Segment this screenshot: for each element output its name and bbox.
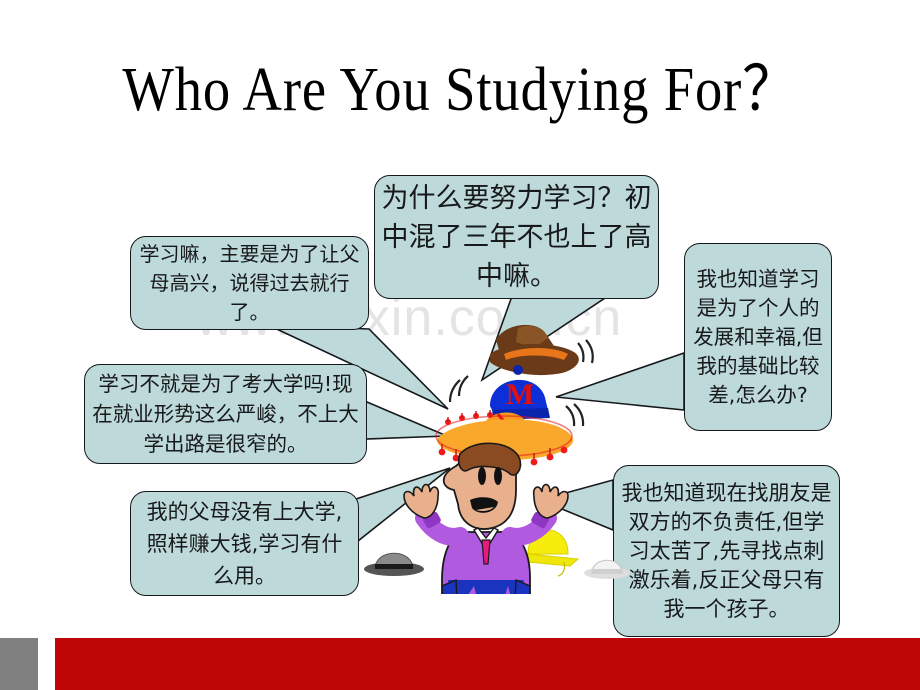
footer-grey-block (0, 638, 38, 690)
bubble-text: 我的父母没有上大学,照样赚大钱,学习有什么用。 (131, 496, 358, 592)
slide-canvas: Who Are You Studying For？ www.zixin.com.… (0, 0, 920, 690)
speech-bubble-for-college-exam: 学习不就是为了考大学吗!现在就业形势这么严峻，不上大学出路是很窄的。 (84, 364, 367, 464)
cap-letter: M (506, 378, 534, 411)
bubble-text: 学习不就是为了考大学吗!现在就业形势这么严峻，不上大学出路是很窄的。 (85, 369, 366, 459)
bubble-text: 学习嘛，主要是为了让父母高兴，说得过去就行了。 (131, 240, 368, 327)
footer-red-bar (55, 638, 920, 690)
speech-bubble-parents-no-college: 我的父母没有上大学,照样赚大钱,学习有什么用。 (130, 491, 359, 596)
cowboy-hat-icon (490, 325, 579, 375)
speech-bubble-study-for-parents: 学习嘛，主要是为了让父母高兴，说得过去就行了。 (130, 236, 369, 330)
bubble-text: 我也知道现在找朋友是双方的不负责任,但学习太苦了,先寻找点刺激乐着,反正父母只有… (614, 479, 839, 624)
speech-bubble-personal-development: 我也知道学习是为了个人的发展和幸福,但我的基础比较差,怎么办? (684, 243, 832, 431)
bubble-text: 为什么要努力学习？初中混了三年不也上了高中嘛。 (375, 179, 658, 296)
speech-bubble-why-study-hard: 为什么要努力学习？初中混了三年不也上了高中嘛。 (374, 175, 659, 299)
cartoon-man-juggling-hats: M (398, 318, 634, 594)
speech-bubble-dating-excuse: 我也知道现在找朋友是双方的不负责任,但学习太苦了,先寻找点刺激乐着,反正父母只有… (613, 465, 840, 637)
bubble-text: 我也知道学习是为了个人的发展和幸福,但我的基础比较差,怎么办? (685, 265, 831, 410)
